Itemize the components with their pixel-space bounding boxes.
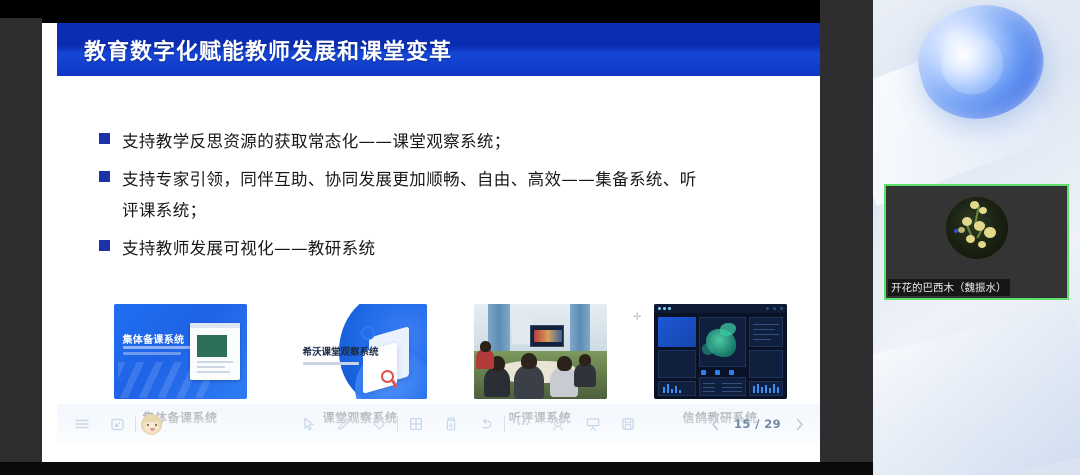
toolbar-divider xyxy=(135,416,136,432)
spotlight-icon[interactable] xyxy=(545,411,571,437)
board-icon[interactable] xyxy=(580,411,606,437)
list-item: 支持专家引领，同伴互助、协同发展更加顺畅、自由、高效——集备系统、听 评课系统； xyxy=(99,164,799,226)
slide-title-bar: 教育数字化赋能教师发展和课堂变革 xyxy=(57,23,820,76)
tingpingke-classroom-photo-image xyxy=(474,304,607,399)
bullet-list: 支持教学反思资源的获取常态化——课堂观察系统； 支持专家引领，同伴互助、协同发展… xyxy=(99,126,799,271)
grid-icon[interactable] xyxy=(403,411,429,437)
menu-icon[interactable] xyxy=(69,411,95,437)
jiti-beike-product-card-image: 集体备课系统 xyxy=(114,304,247,399)
video-conference-panel: 开花的巴西木（魏振水） xyxy=(873,0,1080,475)
thumb-card-title: 希沃课堂观察系统 xyxy=(303,344,379,358)
participant-name-label: 开花的巴西木（魏振水） xyxy=(888,279,1010,296)
flowering-plant-photo xyxy=(946,197,1008,259)
xinge-jiaoyan-dashboard-image xyxy=(654,304,787,399)
undo-icon[interactable] xyxy=(473,411,499,437)
eraser-icon[interactable] xyxy=(366,411,392,437)
thumb-card-title: 集体备课系统 xyxy=(123,331,185,346)
presentation-slide[interactable]: 教育数字化赋能教师发展和课堂变革 支持教学反思资源的获取常态化——课堂观察系统；… xyxy=(42,18,820,462)
pointer-icon[interactable] xyxy=(296,411,322,437)
ketang-guancha-illustration-image: 希沃课堂观察系统 xyxy=(294,304,427,399)
bullet-text: 支持教学反思资源的获取常态化——课堂观察系统； xyxy=(122,126,511,157)
desktop-frame-gap xyxy=(820,0,873,475)
desktop-frame-bottom xyxy=(0,462,873,475)
toolbar-divider xyxy=(504,416,505,432)
screen-root: 教育数字化赋能教师发展和课堂变革 支持教学反思资源的获取常态化——课堂观察系统；… xyxy=(0,0,1080,475)
save-icon[interactable] xyxy=(615,411,641,437)
bullet-text: 支持专家引领，同伴互助、协同发展更加顺畅、自由、高效——集备系统、听 xyxy=(122,164,697,195)
bullet-square-icon xyxy=(99,240,110,251)
bullet-square-icon xyxy=(99,171,110,182)
pen-icon[interactable] xyxy=(331,411,357,437)
wallpaper-sheet-lower xyxy=(873,304,1080,475)
desktop-frame-left xyxy=(0,0,42,475)
user-avatar[interactable] xyxy=(141,414,162,435)
page-indicator: 15 / 29 xyxy=(734,417,781,431)
bullet-text: 支持教师发展可视化——教研系统 xyxy=(122,233,376,264)
more-icon[interactable] xyxy=(510,411,536,437)
participant-video-tile[interactable]: 开花的巴西木（魏振水） xyxy=(884,184,1069,300)
list-item: 支持教学反思资源的获取常态化——课堂观察系统； xyxy=(99,126,799,157)
page-title: 教育数字化赋能教师发展和课堂变革 xyxy=(57,34,452,66)
list-item: 支持教师发展可视化——教研系统 xyxy=(99,233,799,264)
minimize-icon[interactable] xyxy=(104,411,130,437)
toolbar-divider xyxy=(397,416,398,432)
bullet-text-continuation: 评课系统； xyxy=(122,195,697,226)
next-page-button[interactable] xyxy=(790,415,808,433)
page-navigator: 15 / 29 xyxy=(707,415,808,433)
bullet-square-icon xyxy=(99,133,110,144)
presentation-toolbar: 15 / 29 xyxy=(57,404,820,444)
prev-page-button[interactable] xyxy=(707,415,725,433)
ink-bottle-icon[interactable] xyxy=(438,411,464,437)
